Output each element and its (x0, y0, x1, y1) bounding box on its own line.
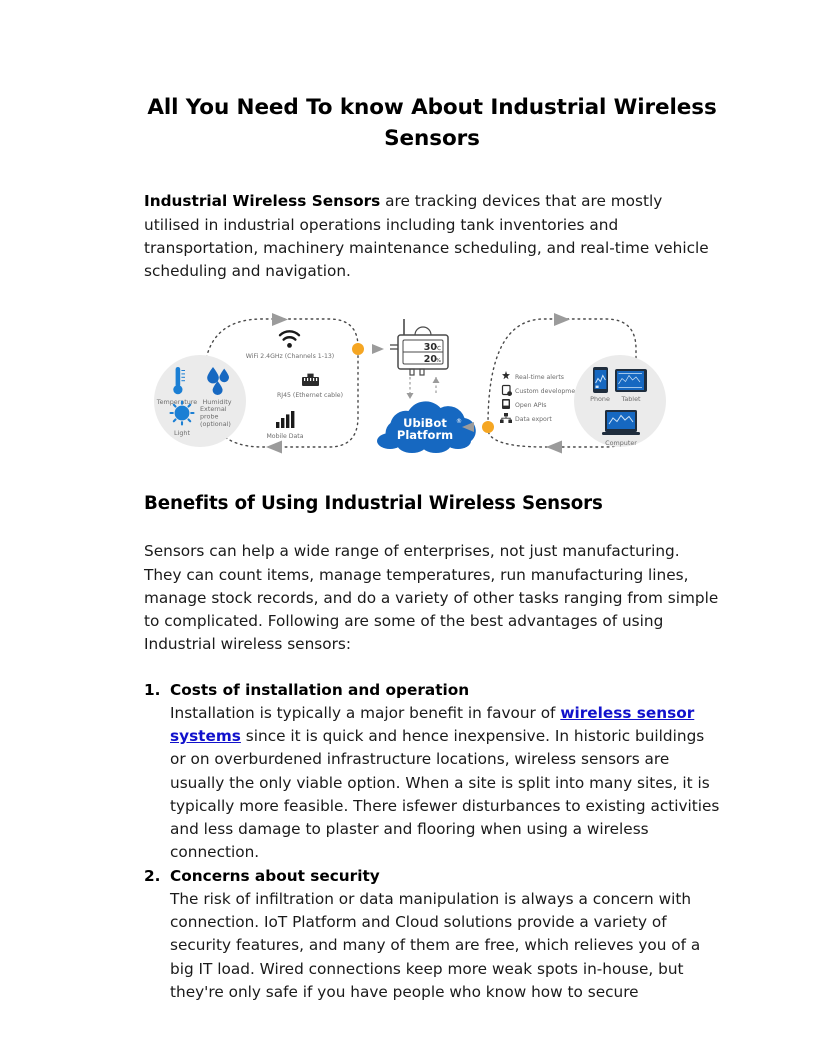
custom-development-icon (503, 386, 513, 397)
ethernet-icon (302, 374, 319, 386)
phone-icon (593, 367, 608, 393)
computer-icon (602, 410, 640, 435)
page-content: All You Need To know About Industrial Wi… (144, 0, 720, 1004)
cloud-registered-mark: ® (456, 418, 462, 425)
open-apis-icon (502, 399, 510, 409)
benefit-body: Installation is typically a major benefi… (170, 702, 720, 865)
arrow-from-cloud (433, 377, 440, 383)
connector-dot-left (352, 343, 364, 355)
right-loop-arrow-top (554, 313, 570, 326)
feature-list: Real-time alerts Custom development Open… (500, 371, 582, 423)
right-loop-arrow-bottom (546, 441, 562, 454)
ubibot-connectivity-diagram: Temperature Humidity (144, 305, 720, 465)
mobile-data-icon (276, 411, 294, 428)
tablet-label: Tablet (620, 395, 641, 403)
feature-label-3: Data export (515, 416, 552, 423)
benefit-body-after-link: since it is quick and hence inexpensive.… (170, 727, 719, 861)
feature-label-2: Open APIs (515, 402, 547, 409)
phone-label: Phone (590, 395, 610, 403)
device-reading-top-unit: ℃ (435, 345, 441, 352)
realtime-alerts-icon (502, 371, 510, 379)
intro-lead: Industrial Wireless Sensors (144, 192, 380, 210)
section-intro-paragraph: Sensors can help a wide range of enterpr… (144, 514, 720, 656)
document-page: All You Need To know About Industrial Wi… (0, 0, 816, 1056)
tablet-icon (615, 369, 647, 392)
connector-dot-right (482, 421, 494, 433)
ubibot-cloud: UbiBot ® Platform (377, 402, 476, 454)
feature-label-1: Custom development (515, 388, 582, 395)
ethernet-label: RJ45 (Ethernet cable) (277, 392, 343, 399)
benefit-body-before-link: Installation is typically a major benefi… (170, 704, 560, 722)
benefit-title: Concerns about security (170, 865, 720, 888)
wifi-icon (280, 332, 299, 349)
diagram-container: Temperature Humidity (144, 283, 720, 465)
cloud-line2: Platform (397, 428, 453, 442)
benefit-title: Costs of installation and operation (170, 679, 720, 702)
intro-paragraph: Industrial Wireless Sensors are tracking… (144, 154, 720, 283)
loop-arrow-top (272, 313, 288, 326)
data-export-icon (500, 413, 512, 423)
device-cloud-connector (410, 377, 436, 393)
light-label: Light (174, 429, 190, 437)
loop-arrow-bottom (266, 441, 282, 454)
sensors-circle-group: Temperature Humidity (154, 355, 246, 447)
connector-arrow-left (372, 344, 384, 354)
mobile-data-label: Mobile Data (266, 433, 303, 440)
clients-circle-group: Phone Tablet (574, 355, 666, 447)
benefit-body: The risk of infiltration or data manipul… (170, 888, 720, 1004)
benefits-list: Costs of installation and operation Inst… (144, 657, 720, 1005)
arrow-to-cloud (407, 393, 414, 399)
device-reading-bottom-unit: % (436, 358, 441, 364)
list-item: Costs of installation and operation Inst… (144, 679, 720, 865)
sensor-device: 30 ℃ 20 % (390, 319, 448, 375)
list-item: Concerns about security The risk of infi… (144, 865, 720, 1005)
wifi-label: WiFi 2.4GHz (Channels 1-13) (246, 353, 334, 360)
computer-label: Computer (605, 439, 637, 447)
section-heading: Benefits of Using Industrial Wireless Se… (144, 465, 720, 514)
page-title: All You Need To know About Industrial Wi… (144, 0, 720, 154)
feature-label-0: Real-time alerts (515, 374, 564, 381)
